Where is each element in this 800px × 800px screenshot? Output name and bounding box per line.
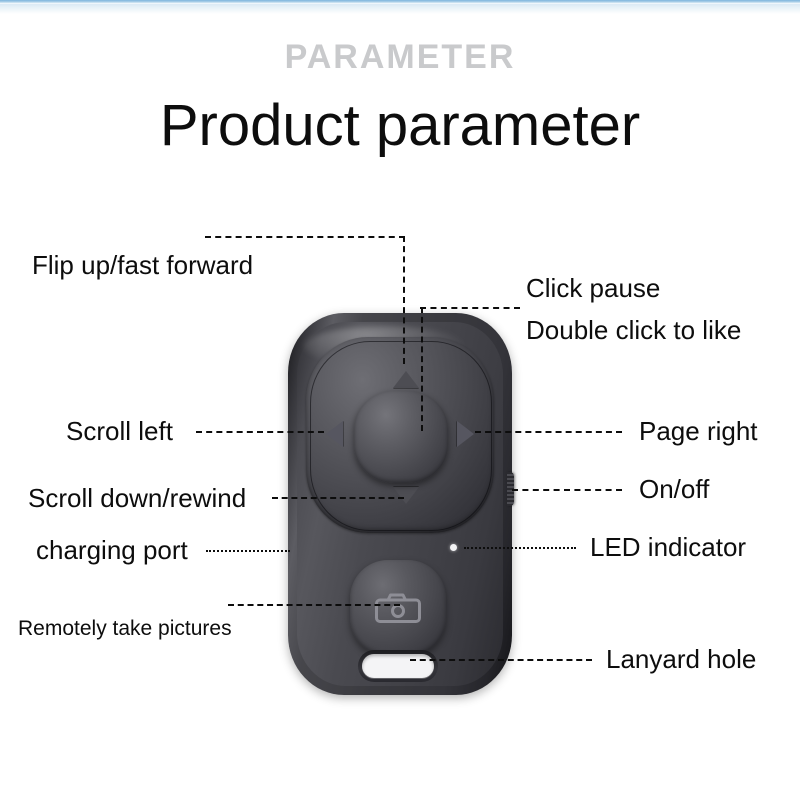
led-indicator-light [450, 544, 457, 551]
arrow-down-icon[interactable] [393, 487, 419, 504]
product-parameter-diagram: PARAMETER Product parameter [0, 0, 800, 800]
leader-flip-up-vertical [403, 236, 405, 364]
callout-label-flip-up-fast-forward: Flip up/fast forward [32, 252, 253, 278]
callout-label-on-off: On/off [639, 476, 709, 502]
leader-led-indicator [464, 547, 576, 549]
arrow-up-icon[interactable] [393, 371, 419, 388]
leader-remotely-take-pictures [228, 604, 400, 606]
dpad-plate[interactable] [306, 337, 494, 533]
leader-click-pause-vertical [421, 307, 423, 431]
callout-label-charging-port: charging port [36, 537, 188, 563]
callout-label-remotely-take-pictures: Remotely take pictures [18, 618, 232, 639]
shutter-button[interactable] [350, 560, 446, 656]
leader-page-right [475, 431, 622, 433]
camera-icon [375, 593, 421, 623]
arrow-right-icon[interactable] [457, 421, 474, 447]
callout-label-lanyard-hole: Lanyard hole [606, 646, 756, 672]
dpad-center-button[interactable] [354, 391, 448, 483]
page-title: Product parameter [0, 96, 800, 157]
leader-on-off [512, 489, 622, 491]
callout-label-scroll-left: Scroll left [66, 418, 173, 444]
callout-label-page-right: Page right [639, 418, 758, 444]
leader-flip-up-horizontal [205, 236, 405, 238]
callout-label-click-pause: Click pause [526, 275, 660, 301]
leader-lanyard-hole [410, 659, 592, 661]
arrow-left-icon[interactable] [326, 421, 343, 447]
callout-label-scroll-down-rewind: Scroll down/rewind [28, 485, 246, 511]
callout-label-led-indicator: LED indicator [590, 534, 746, 560]
page-eyebrow: PARAMETER [0, 40, 800, 74]
lanyard-hole [362, 654, 434, 678]
remote-shutter-illustration [288, 313, 512, 695]
leader-charging-port [206, 550, 290, 552]
leader-scroll-down [272, 497, 404, 499]
leader-click-pause-horizontal [420, 307, 520, 309]
callout-label-double-click-to-like: Double click to like [526, 317, 741, 343]
top-accent-fade [0, 4, 800, 14]
leader-scroll-left [196, 431, 324, 433]
